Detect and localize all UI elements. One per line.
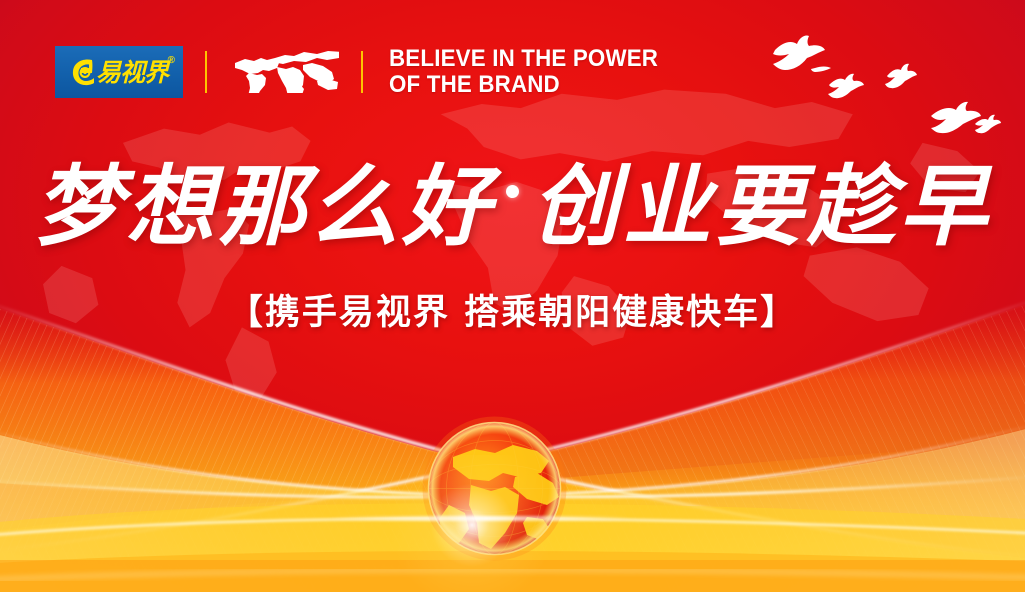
trademark-symbol: ®: [168, 55, 175, 66]
brand-logo[interactable]: 易视界 ®: [55, 46, 183, 98]
divider-left: [205, 51, 207, 93]
logo-mark: 易视界: [70, 57, 168, 88]
header-row: 易视界 ® BELIEVE IN THE POWEROF THE BRAND: [55, 44, 678, 100]
stylized-e-eye-icon: [70, 57, 95, 88]
tagline-line-1: BELIEVE IN THE POWER: [389, 45, 658, 72]
brand-name-cn: 易视界: [96, 60, 168, 85]
headline-part-1: 梦想那么好: [34, 154, 494, 258]
brand-tagline: BELIEVE IN THE POWEROF THE BRAND: [389, 46, 658, 98]
glowing-globe-icon: [419, 413, 570, 564]
world-map-icon: [229, 51, 339, 93]
flying-doves-icon: [745, 28, 1005, 158]
tagline-line-2: OF THE BRAND: [389, 71, 560, 98]
dot-separator: [506, 185, 519, 198]
headline-part-2: 创业要趁早: [531, 154, 991, 258]
light-flare-ray: [330, 516, 630, 521]
headline: 梦想那么好创业要趁早: [0, 162, 1025, 252]
divider-right: [361, 51, 363, 93]
promo-banner: 易视界 ® BELIEVE IN THE POWEROF THE BRAND: [0, 0, 1025, 592]
